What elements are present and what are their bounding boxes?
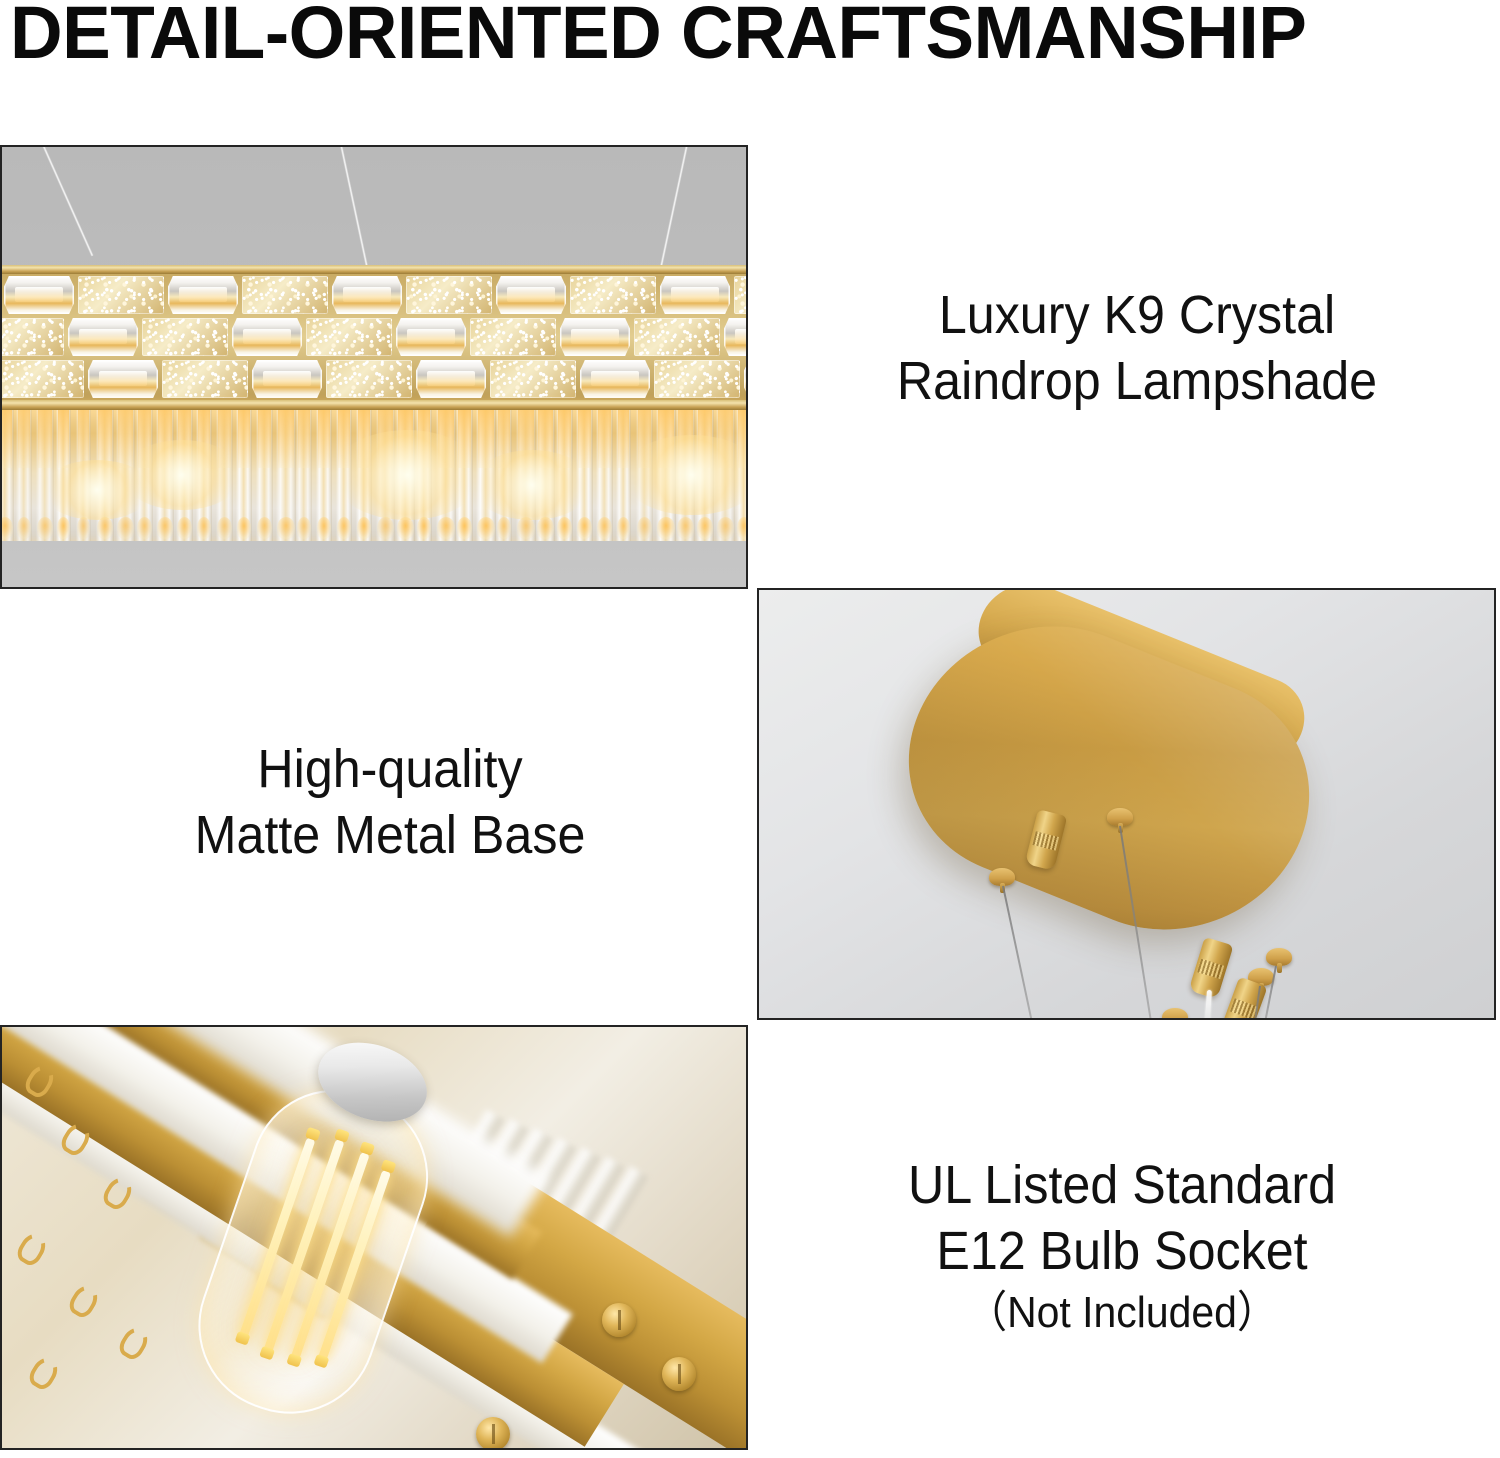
caption-crystal: Luxury K9 Crystal Raindrop Lampshade <box>816 282 1458 414</box>
suspension-wire <box>38 145 94 256</box>
suspension-wire <box>659 145 691 270</box>
sparkle-tile <box>470 318 556 356</box>
crystal-prism <box>2 410 14 541</box>
gold-frame-rail-bottom <box>2 400 746 410</box>
gold-screw <box>662 1357 696 1391</box>
crystal-prism <box>556 410 573 541</box>
baguette-gem <box>660 276 730 314</box>
ceiling-canopy <box>862 588 1356 968</box>
crystal-prism <box>576 410 593 541</box>
caption-bulb-socket: UL Listed Standard E12 Bulb Socket （Not … <box>797 1152 1448 1342</box>
crystal-prism <box>56 410 71 541</box>
sparkle-tile <box>634 318 720 356</box>
crystal-hook <box>115 1323 152 1363</box>
baguette-gem <box>332 276 402 314</box>
crystal-prism <box>16 410 32 541</box>
crystal-prism <box>276 410 296 541</box>
suspension-wire <box>337 145 369 270</box>
baguette-gem <box>580 360 650 398</box>
crystal-prism <box>696 410 714 541</box>
jeweled-mosaic-band <box>2 274 746 400</box>
canopy-body <box>862 588 1356 968</box>
caption-crystal-line2: Raindrop Lampshade <box>897 351 1377 411</box>
crystal-prism <box>656 410 676 541</box>
jewel-row <box>2 274 746 316</box>
crystal-prism <box>236 410 252 541</box>
crystal-prism <box>716 410 735 541</box>
baguette-gem <box>252 360 322 398</box>
sparkle-tile <box>490 360 576 398</box>
crystal-prism-curtain <box>2 410 746 541</box>
canopy-shading <box>862 588 1356 968</box>
baguette-gem <box>560 318 630 356</box>
crystal-prism <box>476 410 496 541</box>
crystal-prism <box>296 410 312 541</box>
crystal-prism <box>416 410 432 541</box>
baguette-gem <box>4 276 74 314</box>
gold-screw <box>476 1417 510 1450</box>
crystal-prism <box>256 410 273 541</box>
sparkle-tile <box>654 360 740 398</box>
baguette-gem <box>168 276 238 314</box>
baguette-gem <box>744 360 746 398</box>
bulb-socket-photo <box>0 1025 748 1450</box>
crystal-prism <box>676 410 695 541</box>
sparkle-tile <box>2 318 64 356</box>
crystal-prism <box>216 410 233 541</box>
sparkle-tile <box>734 276 746 314</box>
gold-screw <box>602 1303 636 1337</box>
crystal-prism <box>96 410 114 541</box>
caption-crystal-line1: Luxury K9 Crystal <box>939 285 1335 345</box>
baguette-gem <box>496 276 566 314</box>
caption-base-line1: High-quality <box>257 739 522 799</box>
jewel-row <box>2 358 746 400</box>
crystal-hook <box>25 1353 62 1393</box>
caption-bulb-note: （Not Included） <box>797 1284 1448 1342</box>
crystal-prism <box>616 410 631 541</box>
sparkle-tile <box>570 276 656 314</box>
sparkle-tile <box>242 276 328 314</box>
crystal-prism <box>316 410 332 541</box>
baguette-gem <box>232 318 302 356</box>
crystal-prism <box>736 410 746 541</box>
baguette-gem <box>396 318 466 356</box>
crystal-prism <box>336 410 352 541</box>
crystal-prism <box>76 410 91 541</box>
cable-anchor <box>1266 948 1292 966</box>
baguette-gem <box>88 360 158 398</box>
crystal-prism <box>516 410 536 541</box>
crystal-hook <box>65 1281 102 1321</box>
crystal-prism <box>396 410 415 541</box>
page-title: DETAIL-ORIENTED CRAFTSMANSHIP <box>10 0 1468 72</box>
crystal-prism <box>436 410 456 541</box>
caption-metal-base: High-quality Matte Metal Base <box>83 736 697 868</box>
sparkle-tile <box>406 276 492 314</box>
baguette-gem <box>416 360 486 398</box>
metal-base-canopy-photo <box>757 588 1496 1020</box>
sparkle-tile <box>2 360 84 398</box>
crystal-prism <box>456 410 473 541</box>
crystal-prism <box>596 410 613 541</box>
crystal-prism <box>116 410 135 541</box>
baguette-gem <box>68 318 138 356</box>
crystal-prism <box>176 410 193 541</box>
sparkle-tile <box>326 360 412 398</box>
crystal-prism <box>376 410 395 541</box>
sparkle-tile <box>162 360 248 398</box>
crystal-prism <box>156 410 174 541</box>
jewel-row <box>2 316 727 358</box>
crystal-prism <box>636 410 653 541</box>
crystal-prism <box>496 410 512 541</box>
caption-bulb-line1: UL Listed Standard <box>908 1155 1336 1215</box>
caption-base-line2: Matte Metal Base <box>195 805 586 865</box>
crystal-prism <box>36 410 54 541</box>
sparkle-tile <box>78 276 164 314</box>
baguette-gem <box>724 318 746 356</box>
suspension-cable <box>1002 886 1034 1020</box>
crystal-lampshade-photo <box>0 145 748 589</box>
cable-anchor <box>1162 1008 1188 1020</box>
crystal-hook <box>13 1229 50 1269</box>
sparkle-tile <box>306 318 392 356</box>
cable-anchor <box>989 868 1015 886</box>
sparkle-tile <box>142 318 228 356</box>
crystal-prism <box>536 410 555 541</box>
gold-frame-rail-top <box>2 265 746 274</box>
caption-bulb-line2: E12 Bulb Socket <box>936 1221 1307 1281</box>
crystal-prism <box>196 410 212 541</box>
crystal-prism <box>136 410 153 541</box>
crystal-prism <box>356 410 372 541</box>
cable-anchor <box>1107 808 1133 826</box>
